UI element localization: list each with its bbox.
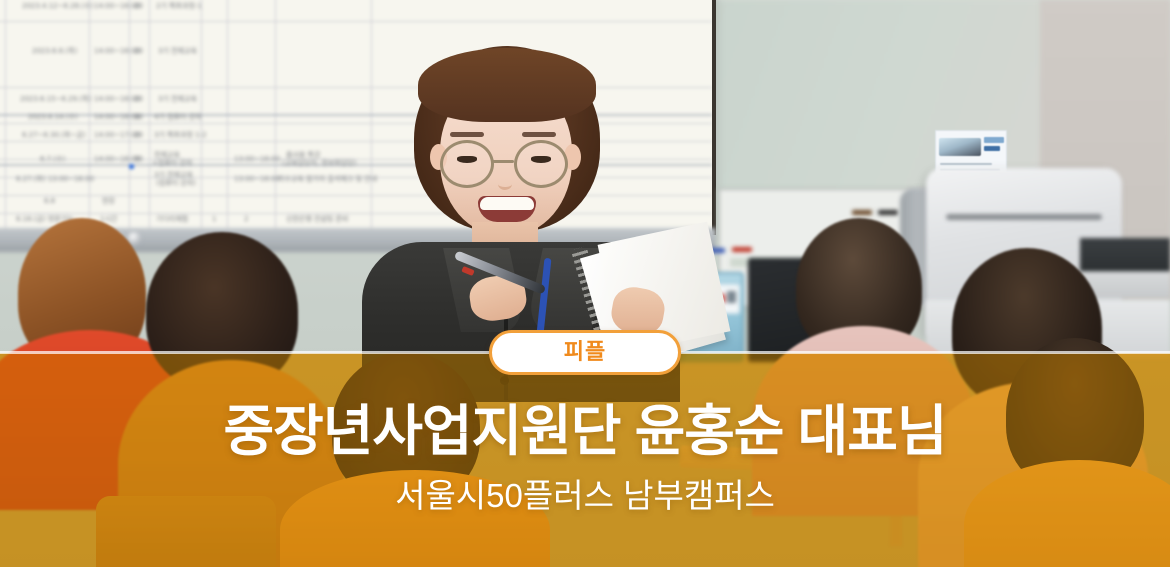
presenter-eye <box>531 156 551 163</box>
marker-black-icon <box>878 210 898 215</box>
banner-content: 피플 중장년사업지원단 윤홍순 대표님 서울시50플러스 남부캠퍼스 <box>0 330 1170 515</box>
banner-subtitle: 서울시50플러스 남부캠퍼스 <box>0 478 1170 514</box>
banner-title: 중장년사업지원단 윤홍순 대표님 <box>0 403 1170 460</box>
presenter-eyebrow <box>522 132 556 137</box>
presenter-nose <box>498 178 512 190</box>
glasses-lens-right <box>514 140 568 188</box>
copier-slot <box>946 214 1102 220</box>
glasses-lens-left <box>440 140 494 188</box>
presenter-eyebrow <box>450 132 484 137</box>
presenter-eye <box>457 156 477 163</box>
presenter-smile <box>478 196 536 222</box>
marker-red-icon <box>732 247 752 252</box>
people-banner: 2023.4.12~6.28.(수) 14:00~16:00 20 2기 특화과… <box>0 0 1170 567</box>
marker-brown-icon <box>852 210 872 215</box>
presenter-teeth <box>480 197 534 210</box>
category-badge[interactable]: 피플 <box>489 330 681 375</box>
copier-side-tray <box>1080 238 1170 298</box>
presenter-bangs <box>418 48 596 122</box>
glasses-bridge <box>492 160 514 163</box>
poster-photo <box>939 138 981 156</box>
